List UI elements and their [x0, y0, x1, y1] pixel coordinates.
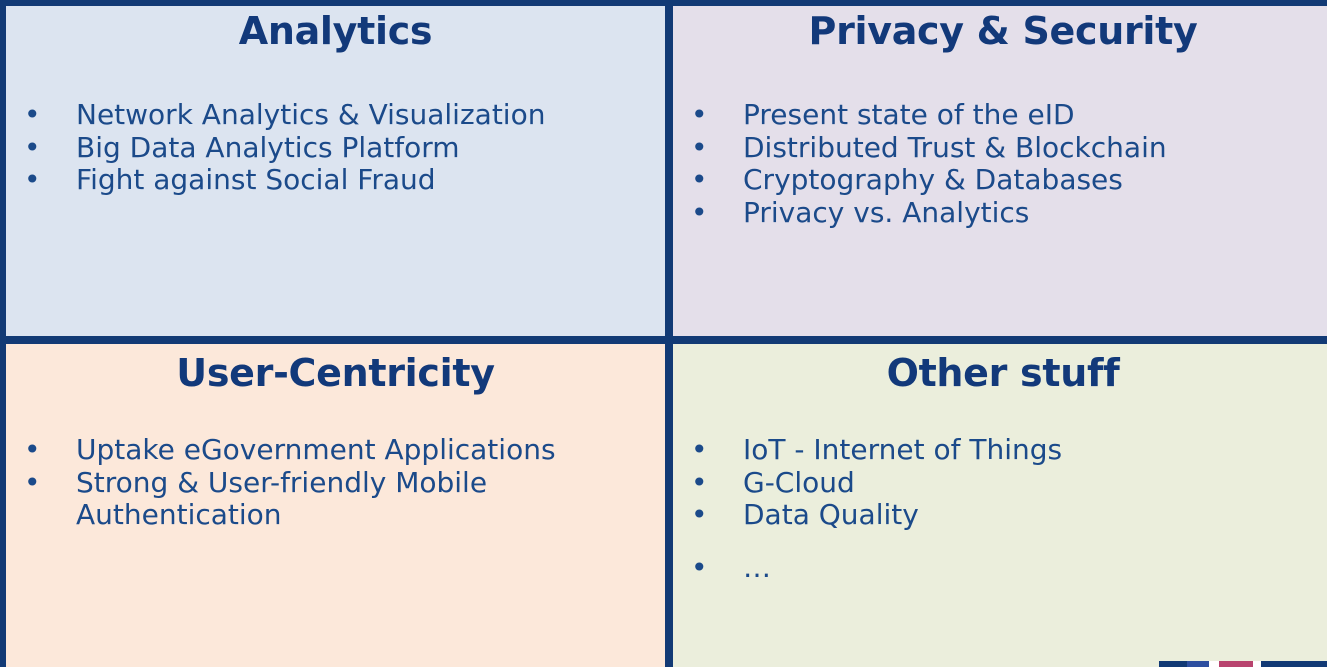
list-item-label: Cryptography & Databases [743, 164, 1323, 197]
list-item[interactable]: • Strong & User-friendly Mobile Authenti… [20, 467, 655, 533]
list-item[interactable]: • Data Quality [687, 499, 1323, 532]
list-item[interactable]: • Big Data Analytics Platform [20, 132, 655, 165]
bullet-list-privacy-security: • Present state of the eID • Distributed… [687, 99, 1323, 230]
quadrant-privacy-security[interactable]: Privacy & Security • Present state of th… [669, 6, 1327, 340]
quadrant-analytics[interactable]: Analytics • Network Analytics & Visualiz… [6, 6, 669, 340]
bullet-icon: • [20, 434, 76, 467]
slide-canvas: Analytics • Network Analytics & Visualiz… [0, 0, 1327, 667]
list-item-label: Privacy vs. Analytics [743, 197, 1323, 230]
list-item-label: Present state of the eID [743, 99, 1323, 132]
bullet-icon: • [687, 552, 743, 585]
logo-stripe-segment [1159, 661, 1187, 667]
bullet-icon: • [20, 99, 76, 132]
list-item[interactable]: • … [687, 552, 1323, 585]
cropped-logo-stripe-icon [1159, 661, 1327, 667]
logo-stripe-segment [1219, 661, 1253, 667]
list-item[interactable]: • Present state of the eID [687, 99, 1323, 132]
bullet-icon: • [687, 434, 743, 467]
bullet-list-analytics: • Network Analytics & Visualization • Bi… [20, 99, 655, 197]
list-item[interactable]: • Cryptography & Databases [687, 164, 1323, 197]
four-quadrant-matrix: Analytics • Network Analytics & Visualiz… [0, 0, 1327, 667]
list-item-label: Strong & User-friendly Mobile Authentica… [76, 467, 655, 533]
list-item[interactable]: • IoT - Internet of Things [687, 434, 1323, 467]
quadrant-body-user-centricity: • Uptake eGovernment Applications • Stro… [6, 434, 665, 532]
quadrant-body-privacy-security: • Present state of the eID • Distributed… [673, 99, 1327, 230]
list-item[interactable]: • Uptake eGovernment Applications [20, 434, 655, 467]
list-item-label: G-Cloud [743, 467, 1323, 500]
bullet-icon: • [687, 164, 743, 197]
quadrant-title-analytics: Analytics [6, 6, 665, 52]
quadrant-user-centricity[interactable]: User-Centricity • Uptake eGovernment App… [6, 340, 669, 667]
list-item-label: Uptake eGovernment Applications [76, 434, 655, 467]
bullet-icon: • [687, 197, 743, 230]
quadrant-title-other-stuff: Other stuff [673, 344, 1327, 394]
bullet-icon: • [687, 132, 743, 165]
quadrant-title-user-centricity: User-Centricity [6, 344, 665, 394]
list-item[interactable]: • Privacy vs. Analytics [687, 197, 1323, 230]
list-item[interactable]: • Network Analytics & Visualization [20, 99, 655, 132]
bullet-icon: • [20, 467, 76, 500]
list-item-label: Network Analytics & Visualization [76, 99, 655, 132]
bullet-icon: • [20, 132, 76, 165]
list-item[interactable]: • G-Cloud [687, 467, 1323, 500]
list-item-label: Data Quality [743, 499, 1323, 532]
list-item-label: IoT - Internet of Things [743, 434, 1323, 467]
bullet-icon: • [687, 467, 743, 500]
bullet-icon: • [687, 499, 743, 532]
quadrant-title-privacy-security: Privacy & Security [673, 6, 1327, 52]
logo-stripe-segment [1187, 661, 1209, 667]
list-item-label: Big Data Analytics Platform [76, 132, 655, 165]
bullet-list-other-stuff: • IoT - Internet of Things • G-Cloud • D… [687, 434, 1323, 585]
logo-stripe-segment [1261, 661, 1327, 667]
logo-stripe-segment [1253, 661, 1261, 667]
bullet-list-user-centricity: • Uptake eGovernment Applications • Stro… [20, 434, 655, 532]
quadrant-body-analytics: • Network Analytics & Visualization • Bi… [6, 99, 665, 197]
bullet-icon: • [20, 164, 76, 197]
list-item-label: Distributed Trust & Blockchain [743, 132, 1323, 165]
logo-stripe-segment [1209, 661, 1219, 667]
bullet-icon: • [687, 99, 743, 132]
quadrant-body-other-stuff: • IoT - Internet of Things • G-Cloud • D… [673, 434, 1327, 585]
quadrant-other-stuff[interactable]: Other stuff • IoT - Internet of Things •… [669, 340, 1327, 667]
list-item[interactable]: • Fight against Social Fraud [20, 164, 655, 197]
list-item[interactable]: • Distributed Trust & Blockchain [687, 132, 1323, 165]
list-item-label: … [743, 552, 1323, 585]
list-item-label: Fight against Social Fraud [76, 164, 655, 197]
